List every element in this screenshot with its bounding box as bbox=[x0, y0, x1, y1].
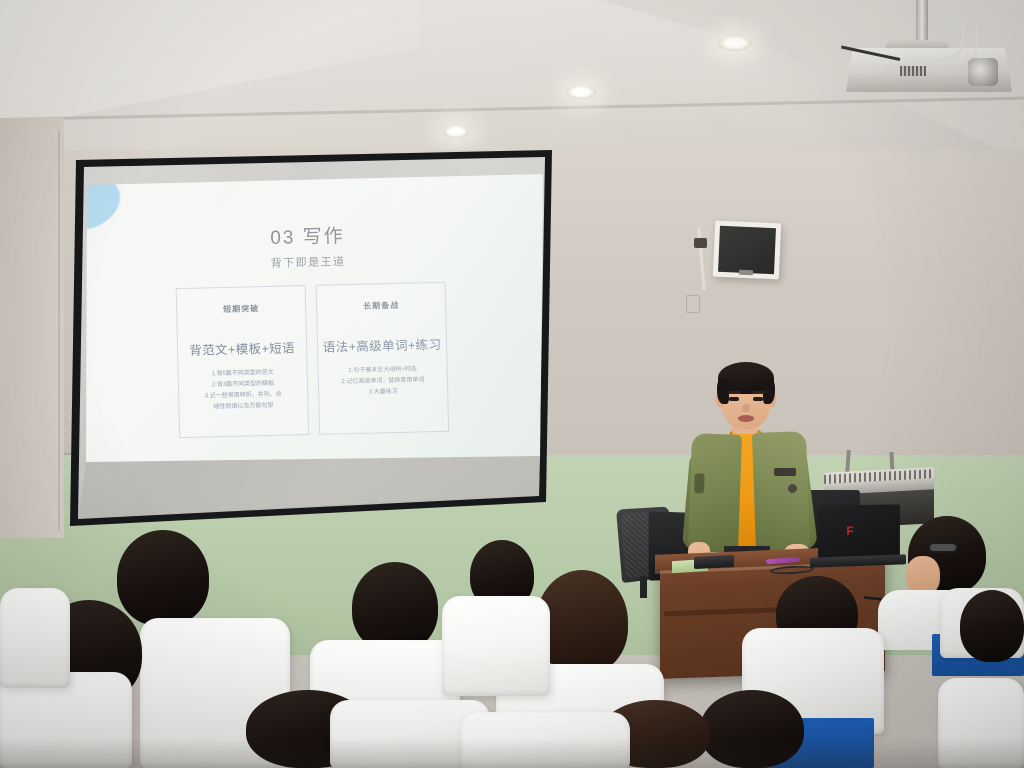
presenter-nose bbox=[742, 404, 750, 412]
audience-head bbox=[352, 562, 438, 652]
wall-seam-line bbox=[58, 130, 60, 530]
audience-head bbox=[960, 590, 1024, 662]
slide-card-short-term: 短期突破 背范文+模板+短语 1.背5篇不同类型的范文 2.背3篇不同类型的模板… bbox=[176, 285, 309, 438]
card-header: 短期突破 bbox=[223, 303, 259, 315]
desk-phone bbox=[694, 555, 734, 569]
slide-cards: 短期突破 背范文+模板+短语 1.背5篇不同类型的范文 2.背3篇不同类型的模板… bbox=[176, 282, 449, 438]
classroom-photo: 03 写作 背下即是王道 短期突破 背范文+模板+短语 1.背5篇不同类型的范文… bbox=[0, 0, 1024, 768]
presenter-sleeve-patch-icon bbox=[694, 473, 705, 493]
office-chair-post bbox=[640, 576, 647, 598]
presenter-eye-right bbox=[753, 397, 763, 401]
downlight-icon-3 bbox=[718, 36, 752, 51]
projector-cable-2 bbox=[938, 24, 978, 64]
card-item-list: 1.句子基本五大结构+时态 2.记忆高级单词，替换常用单词 3.大量练习 bbox=[319, 364, 448, 400]
speaker-badge-icon bbox=[739, 270, 753, 276]
presenter-chest-pocket-icon bbox=[774, 468, 796, 476]
presenter-eyebrow-left bbox=[728, 391, 741, 394]
audience-chair bbox=[0, 588, 70, 688]
downlight-icon-1 bbox=[443, 126, 469, 138]
presenter bbox=[676, 360, 822, 575]
presenter-eyebrow-right bbox=[752, 391, 765, 394]
projector-lens-icon bbox=[968, 58, 998, 86]
speaker-plug-icon bbox=[694, 238, 707, 248]
presenter-eye-left bbox=[729, 397, 739, 401]
card-item-list: 1.背5篇不同类型的范文 2.背3篇不同类型的模板 3.记一些常用转折、并列、总… bbox=[179, 367, 308, 414]
foreground-shadow bbox=[0, 738, 1024, 768]
projector-vent-icon bbox=[900, 66, 926, 76]
downlight-icon-2 bbox=[566, 86, 596, 99]
speaker-grille-icon bbox=[718, 226, 776, 274]
presenter-jacket-right bbox=[752, 431, 810, 553]
audience-glasses-icon bbox=[928, 542, 958, 553]
slide-card-long-term: 长期备战 语法+高级单词+练习 1.句子基本五大结构+时态 2.记忆高级单词，替… bbox=[316, 282, 449, 435]
wall-speaker bbox=[713, 221, 781, 280]
audience-head bbox=[117, 530, 209, 626]
card-item: 结性短语以及万能句型 bbox=[185, 400, 301, 414]
audience-chair bbox=[442, 596, 550, 696]
laptop-logo: F bbox=[846, 525, 855, 538]
card-header: 长期备战 bbox=[363, 300, 399, 312]
wall-left-panel bbox=[0, 118, 64, 538]
laptop-screen: F bbox=[818, 504, 900, 561]
wall-socket-icon bbox=[686, 295, 700, 313]
presenter-jacket-left bbox=[688, 433, 742, 553]
card-main-text: 语法+高级单词+练习 bbox=[323, 334, 442, 356]
presenter-jacket-badge-icon bbox=[788, 484, 797, 493]
presenter-mouth bbox=[738, 415, 754, 422]
mixer-knobs-icon bbox=[824, 469, 934, 484]
card-main-text: 背范文+模板+短语 bbox=[189, 337, 295, 358]
